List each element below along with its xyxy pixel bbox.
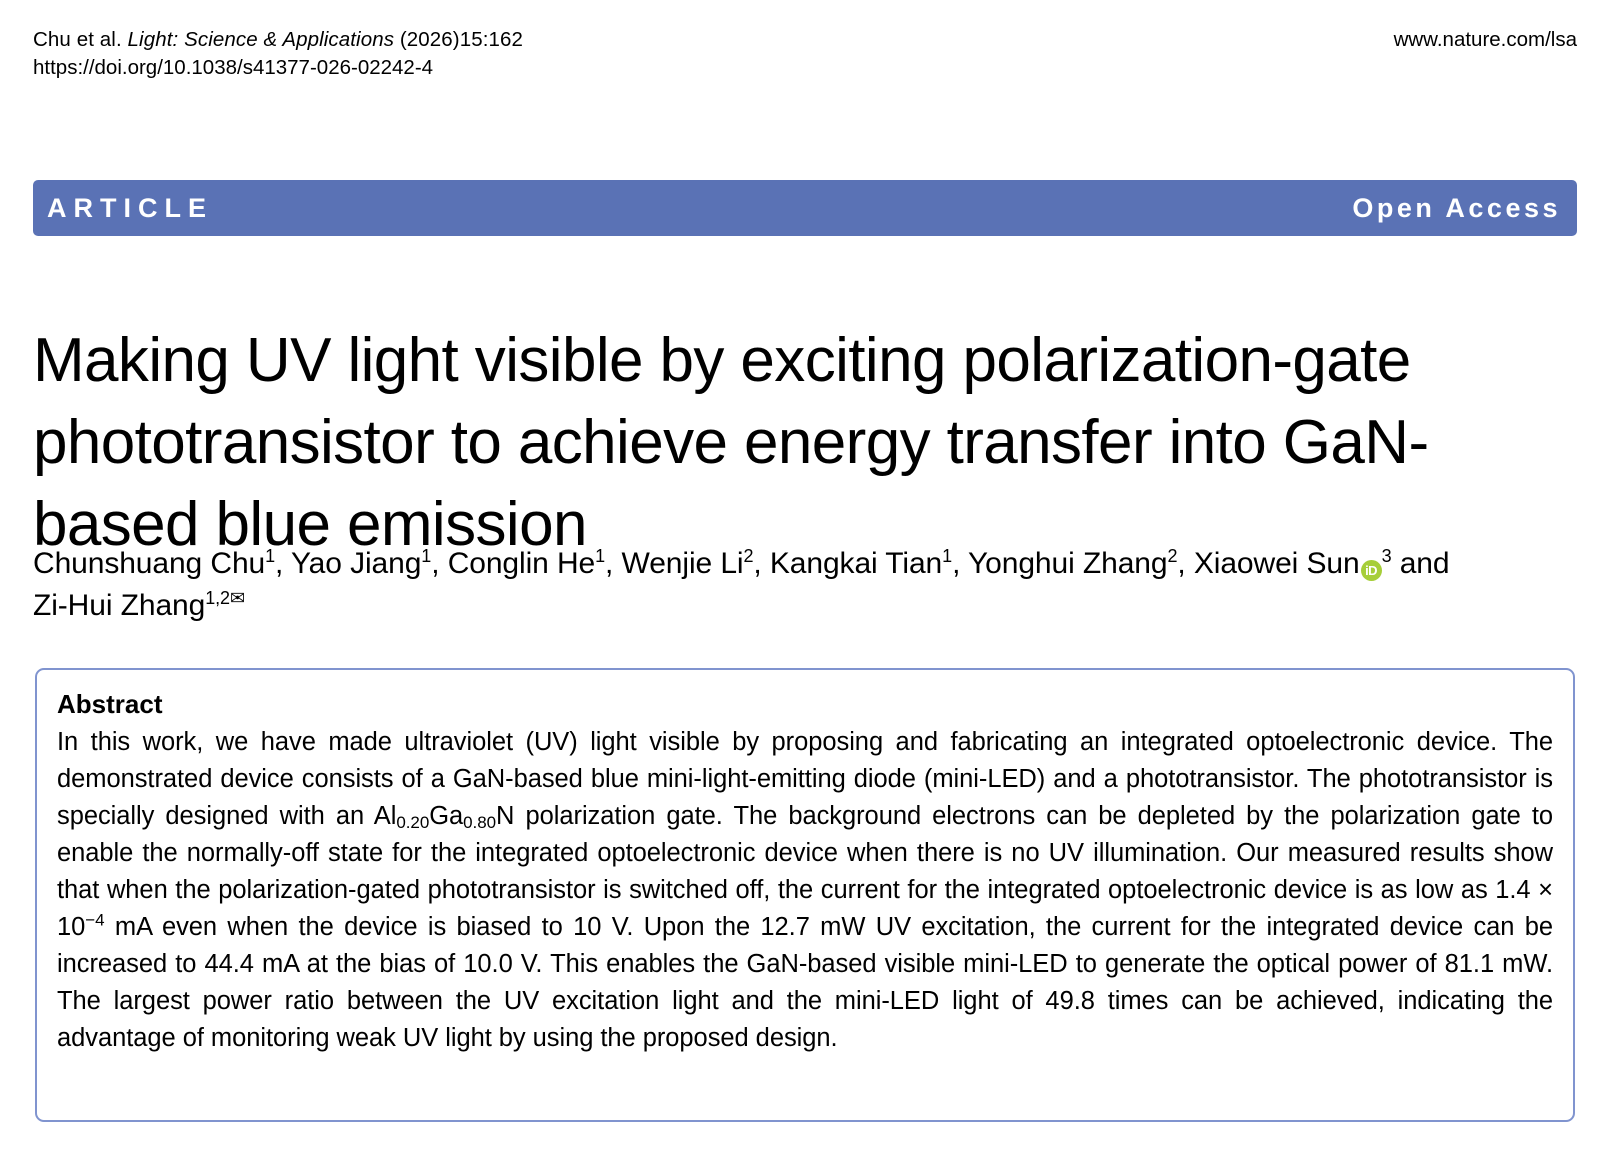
author-affiliation-marker: 1 — [595, 546, 605, 566]
author-name: Zi-Hui Zhang — [33, 589, 205, 622]
journal-name: Light: Science & Applications — [128, 28, 395, 51]
author-name: Conglin He — [448, 547, 595, 580]
chemical-subscript: 0.80 — [463, 813, 496, 832]
abstract-body: In this work, we have made ultraviolet (… — [57, 724, 1553, 1057]
chemical-subscript: 0.20 — [396, 813, 429, 832]
page-title: Making UV light visible by exciting pola… — [33, 320, 1493, 566]
corresponding-author-icon[interactable]: ✉ — [230, 588, 245, 608]
journal-website-link[interactable]: www.nature.com/lsa — [1394, 26, 1577, 54]
journal-citation: Chu et al. Light: Science & Applications… — [33, 26, 523, 54]
article-type-label: ARTICLE — [47, 195, 213, 222]
author-name: Wenjie Li — [622, 547, 744, 580]
author-name: Xiaowei Sun — [1194, 547, 1360, 580]
orcid-icon[interactable]: iD — [1361, 560, 1382, 581]
article-page: Chu et al. Light: Science & Applications… — [0, 0, 1610, 1160]
author-name: Kangkai Tian — [770, 547, 942, 580]
exponent-superscript: −4 — [85, 911, 104, 930]
author-name: Yao Jiang — [291, 547, 421, 580]
author-affiliation-marker: 1,2 — [205, 588, 230, 608]
citation-prefix: Chu et al. — [33, 28, 128, 51]
author-name: Chunshuang Chu — [33, 547, 265, 580]
author-affiliation-marker: 3 — [1382, 546, 1392, 566]
open-access-badge: Open Access — [1352, 195, 1563, 222]
running-head: Chu et al. Light: Science & Applications… — [33, 0, 1577, 66]
author-affiliation-marker: 1 — [942, 546, 952, 566]
author-list: Chunshuang Chu1, Yao Jiang1, Conglin He1… — [33, 543, 1483, 627]
author-affiliation-marker: 2 — [743, 546, 753, 566]
article-banner: ARTICLE Open Access — [33, 180, 1577, 236]
abstract-heading: Abstract — [57, 686, 1553, 722]
doi-link[interactable]: https://doi.org/10.1038/s41377-026-02242… — [33, 54, 433, 82]
author-affiliation-marker: 1 — [265, 546, 275, 566]
author-affiliation-marker: 1 — [421, 546, 431, 566]
abstract-box: Abstract In this work, we have made ultr… — [35, 668, 1575, 1122]
author-affiliation-marker: 2 — [1167, 546, 1177, 566]
citation-suffix: (2026)15:162 — [394, 28, 523, 51]
author-name: Yonghui Zhang — [968, 547, 1167, 580]
